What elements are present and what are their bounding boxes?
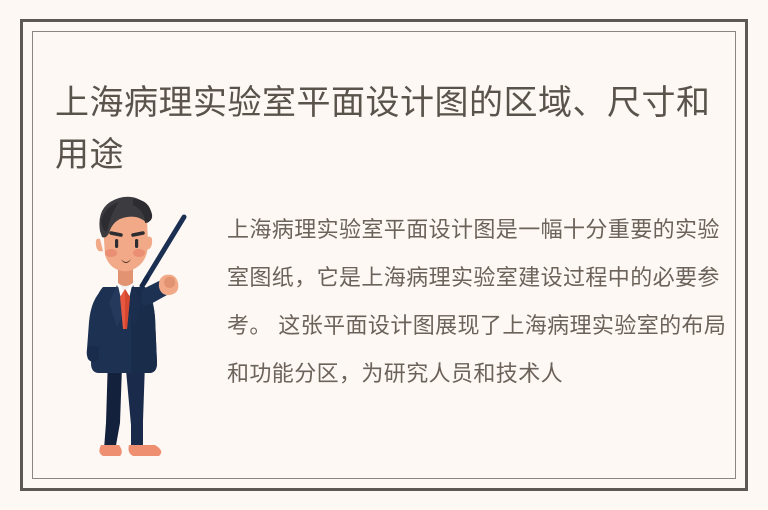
eye-left xyxy=(115,239,118,248)
article-card-inner-frame: 上海病理实验室平面设计图的区域、尺寸和用途 xyxy=(32,31,736,479)
eye-right xyxy=(135,239,138,248)
eyebrow-right xyxy=(133,233,143,235)
businessman-with-pointer-illustration xyxy=(73,177,223,477)
cheek-left xyxy=(105,249,117,257)
cheek-right xyxy=(133,249,145,257)
shoe-left xyxy=(99,445,121,456)
eyebrow-left xyxy=(111,233,121,235)
article-body: 上海病理实验室平面设计图是一幅十分重要的实验室图纸，它是上海病理实验室建设过程中… xyxy=(227,206,736,398)
pointer-stick-icon xyxy=(142,217,184,286)
page-title: 上海病理实验室平面设计图的区域、尺寸和用途 xyxy=(55,77,727,181)
shoe-right xyxy=(129,445,162,456)
article-card: 上海病理实验室平面设计图的区域、尺寸和用途 xyxy=(20,19,748,491)
